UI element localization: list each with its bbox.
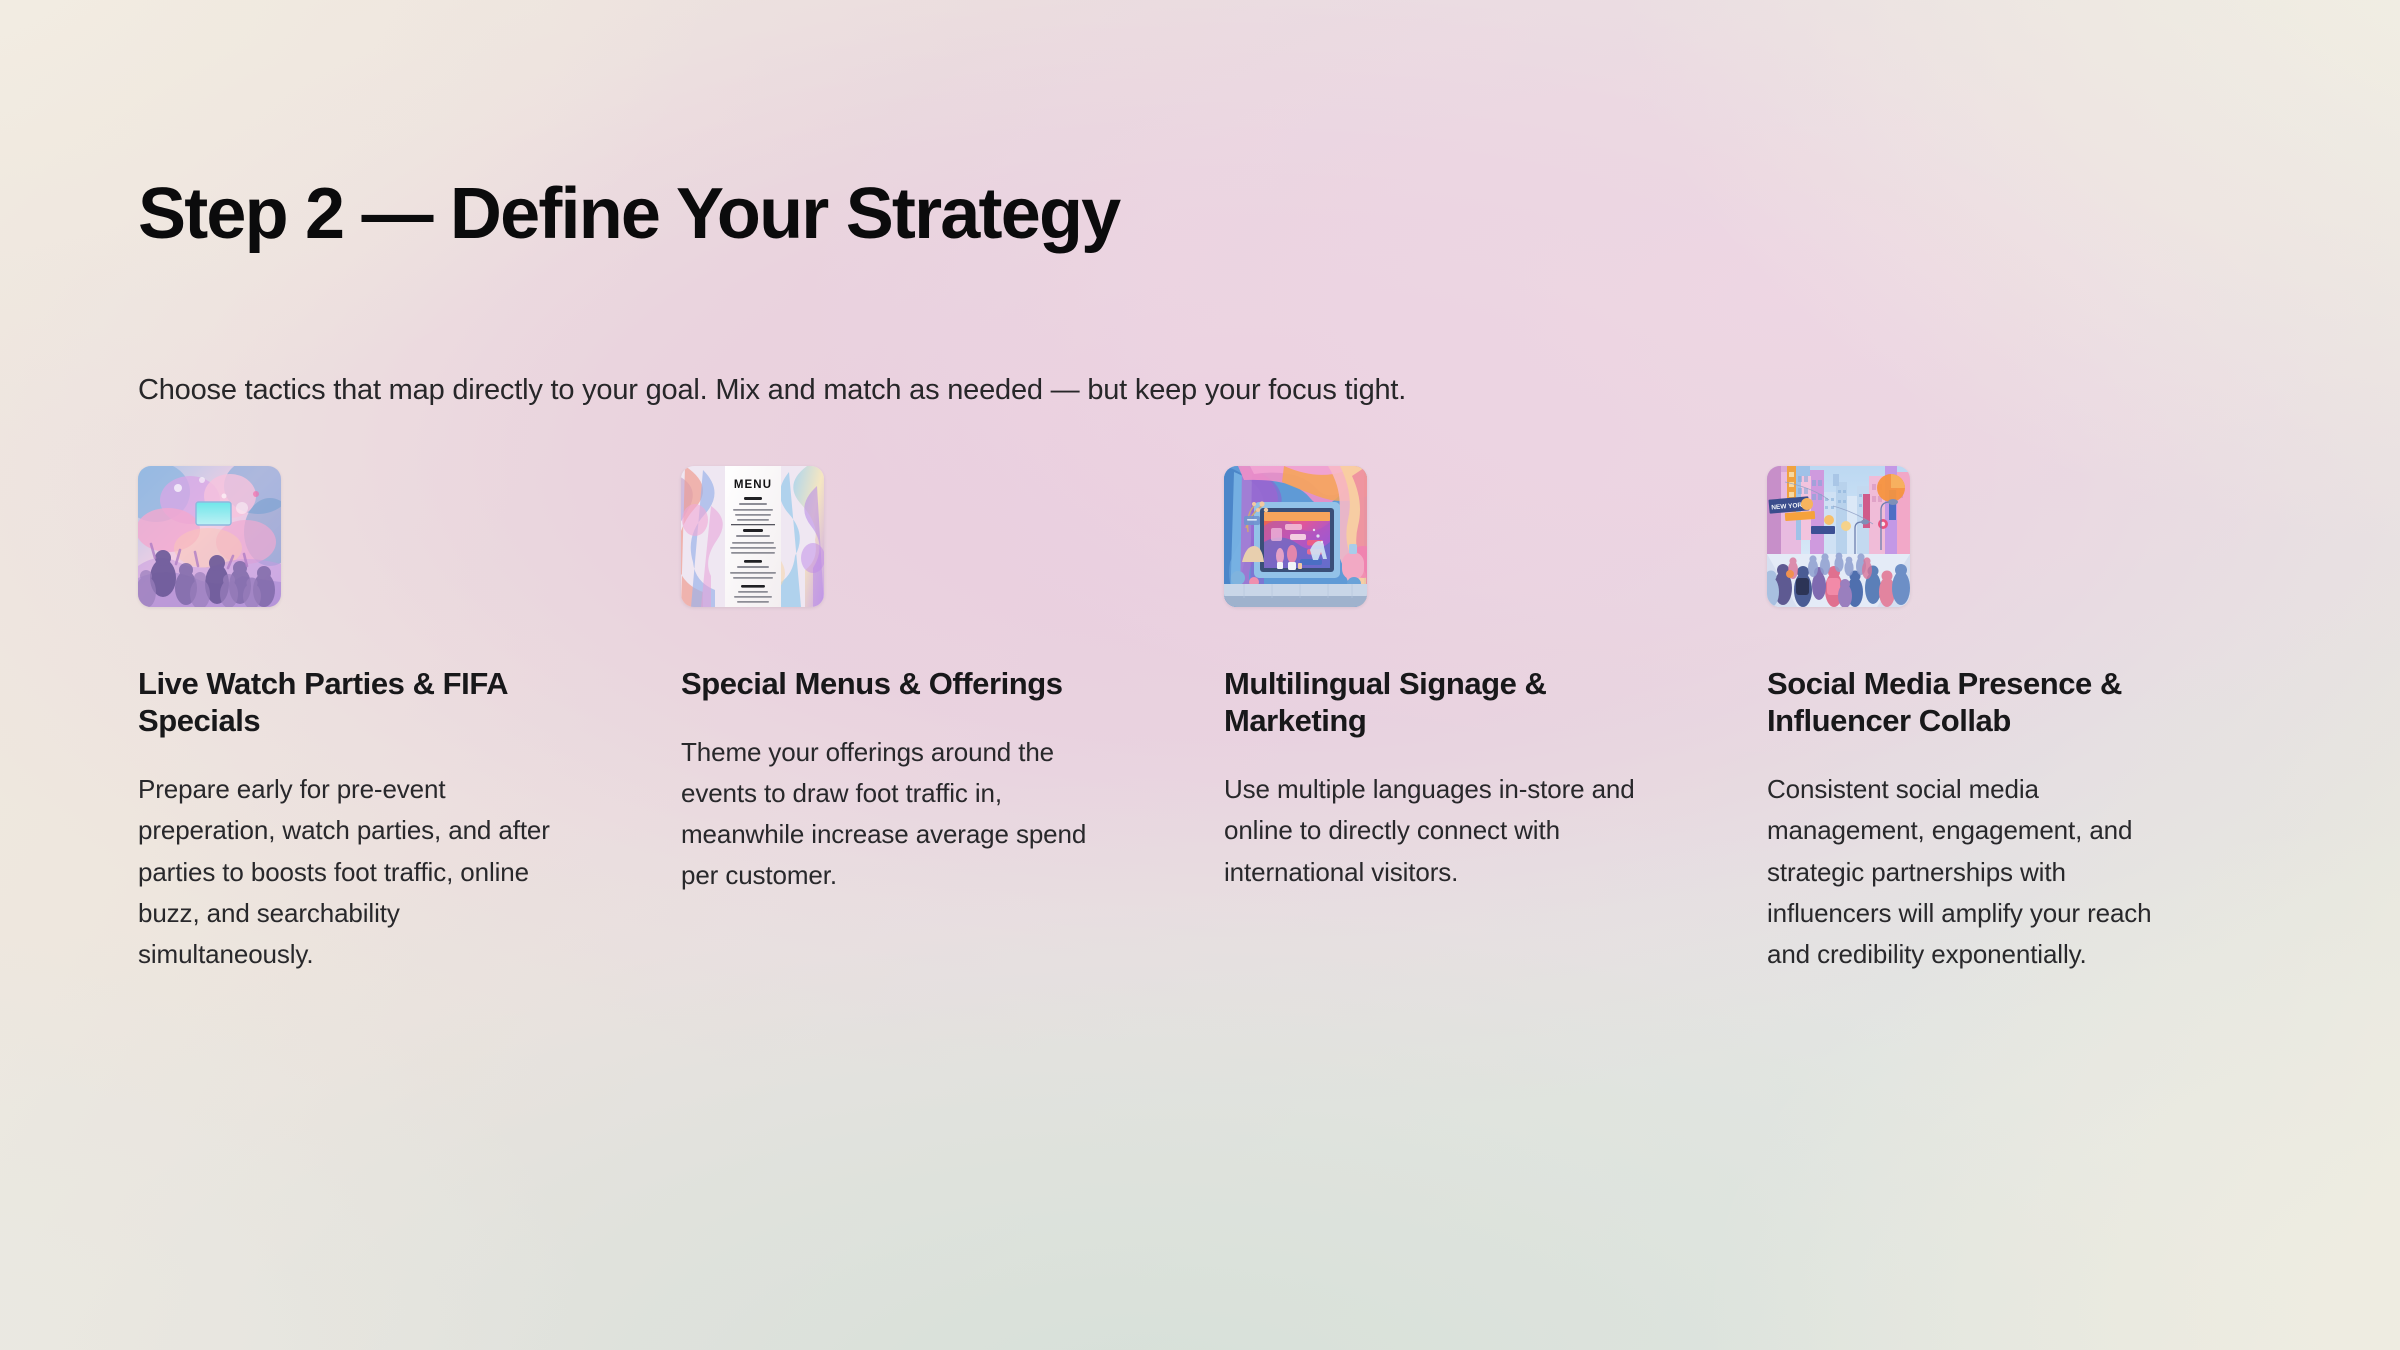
storefront-digital-signage-illustration-icon xyxy=(1224,466,1367,607)
watch-party-crowd-screen-illustration-icon xyxy=(138,466,281,607)
card-body: Theme your offerings around the events t… xyxy=(681,732,1101,896)
restaurant-menu-card-illustration-icon: MENU xyxy=(681,466,824,607)
strategy-card: Multilingual Signage & Marketing Use mul… xyxy=(1224,466,1667,975)
strategy-card-grid: Live Watch Parties & FIFA Specials Prepa… xyxy=(138,466,2314,975)
card-title: Live Watch Parties & FIFA Specials xyxy=(138,665,558,739)
strategy-card: NEW YORK xyxy=(1767,466,2210,975)
strategy-card: MENU xyxy=(681,466,1124,975)
busy-city-street-crowd-illustration-icon: NEW YORK xyxy=(1767,466,1910,607)
card-title: Special Menus & Offerings xyxy=(681,665,1101,702)
page-subtitle: Choose tactics that map directly to your… xyxy=(138,372,1406,410)
card-title: Social Media Presence & Influencer Colla… xyxy=(1767,665,2187,739)
menu-thumbnail-heading: MENU xyxy=(734,479,772,491)
page-title: Step 2 — Define Your Strategy xyxy=(138,176,1119,252)
strategy-card: Live Watch Parties & FIFA Specials Prepa… xyxy=(138,466,581,975)
card-title: Multilingual Signage & Marketing xyxy=(1224,665,1644,739)
slide-root: Step 2 — Define Your Strategy Choose tac… xyxy=(0,0,2400,1350)
card-body: Use multiple languages in-store and onli… xyxy=(1224,769,1644,892)
card-body: Prepare early for pre-event preperation,… xyxy=(138,769,558,974)
card-body: Consistent social media management, enga… xyxy=(1767,769,2187,974)
